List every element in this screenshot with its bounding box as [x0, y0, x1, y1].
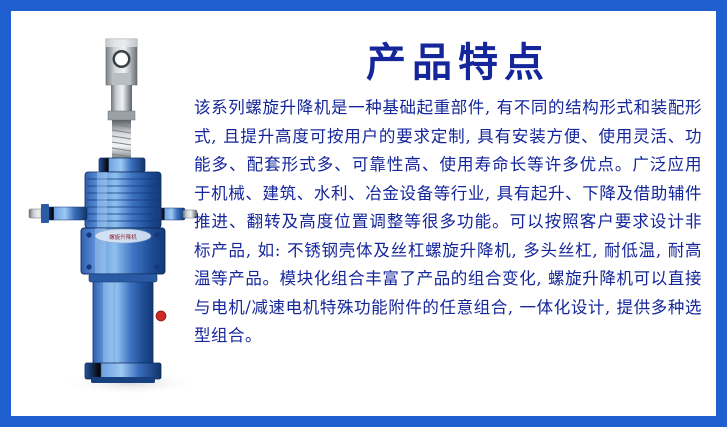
- frame-bar-bottom: [0, 416, 727, 427]
- frame-bar-left: [0, 0, 11, 427]
- frame-bar-top: [0, 0, 727, 11]
- page-title: 产品特点: [188, 30, 708, 88]
- text-column: 产品特点 该系列螺旋升降机是一种基础起重部件, 有不同的结构形式和装配形式, 且…: [188, 18, 708, 410]
- product-feature-banner: 螺旋升降机 产品特点 该系列螺旋升降机是一: [0, 0, 727, 427]
- product-label-text: 螺旋升降机: [109, 233, 137, 241]
- feature-paragraph: 该系列螺旋升降机是一种基础起重部件, 有不同的结构形式和装配形式, 且提升高度可…: [188, 94, 708, 351]
- frame-bar-right: [716, 0, 727, 427]
